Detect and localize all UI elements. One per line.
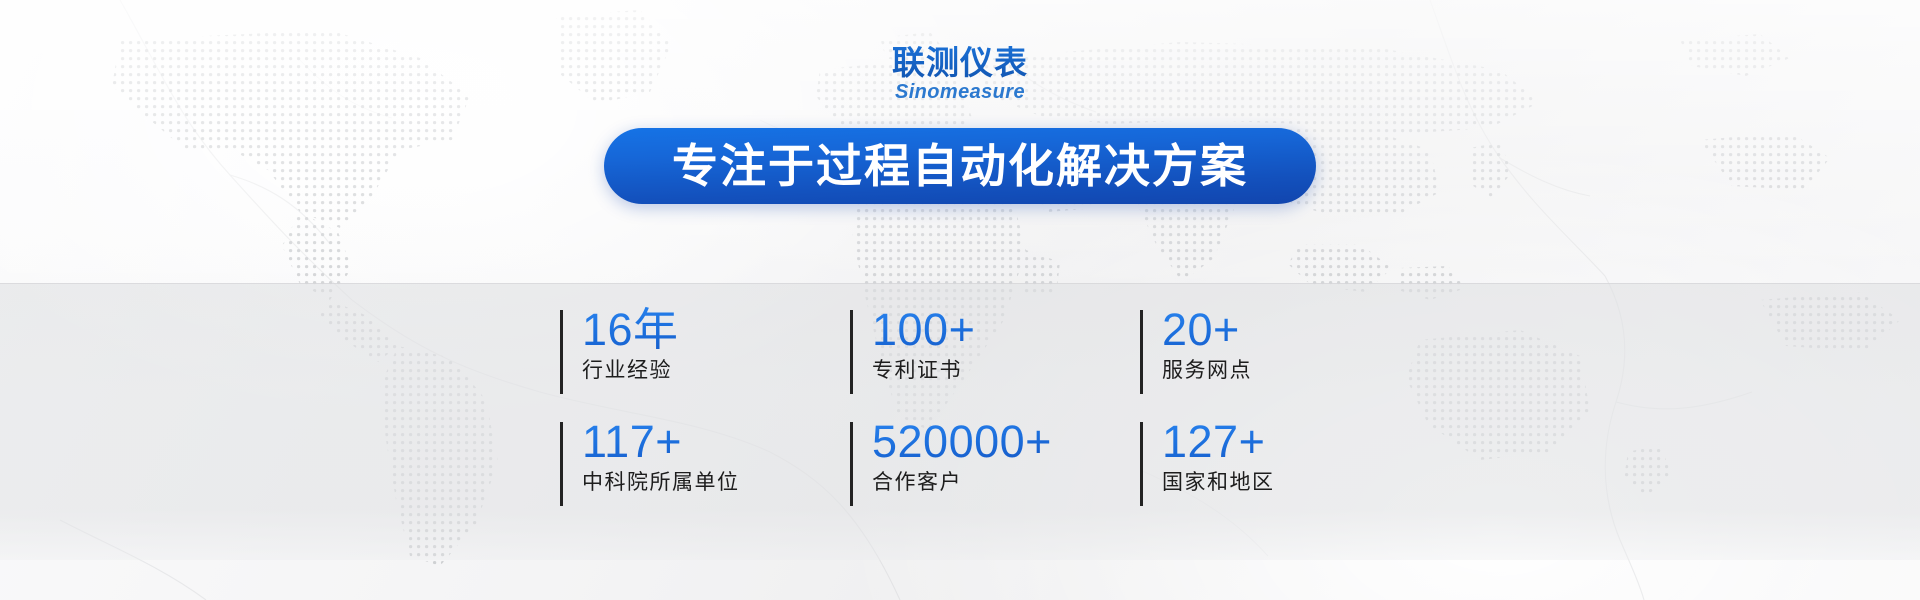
stat-countries-and-regions: 127+ 国家和地区 bbox=[1140, 418, 1430, 530]
banner-content: 联测仪表 Sinomeasure 专注于过程自动化解决方案 16年 行业经验 1… bbox=[0, 0, 1920, 600]
stat-service-outlets: 20+ 服务网点 bbox=[1140, 306, 1430, 418]
stat-label: 中科院所属单位 bbox=[582, 471, 850, 494]
stat-label: 服务网点 bbox=[1162, 359, 1430, 382]
stats-grid: 16年 行业经验 100+ 专利证书 20+ 服务网点 117+ 中科院所属单位 bbox=[560, 306, 1180, 530]
brand-logo: 联测仪表 Sinomeasure bbox=[892, 46, 1028, 102]
stat-industry-experience: 16年 行业经验 bbox=[560, 306, 850, 418]
brand-logo-chinese: 联测仪表 bbox=[892, 46, 1028, 79]
stat-value: 100+ bbox=[872, 306, 1140, 354]
promo-banner: 联测仪表 Sinomeasure 专注于过程自动化解决方案 16年 行业经验 1… bbox=[0, 0, 1920, 600]
stat-value: 127+ bbox=[1162, 418, 1430, 466]
stat-value: 16年 bbox=[582, 306, 850, 354]
stat-rule-icon bbox=[1140, 422, 1143, 506]
stat-label: 国家和地区 bbox=[1162, 471, 1430, 494]
stat-label: 合作客户 bbox=[872, 471, 1140, 494]
stat-rule-icon bbox=[1140, 310, 1143, 394]
stat-partner-customers: 520000+ 合作客户 bbox=[850, 418, 1140, 530]
brand-logo-english: Sinomeasure bbox=[892, 82, 1028, 102]
stat-cas-affiliated-units: 117+ 中科院所属单位 bbox=[560, 418, 850, 530]
headline-pill: 专注于过程自动化解决方案 bbox=[604, 128, 1316, 204]
stat-label: 行业经验 bbox=[582, 359, 850, 382]
stat-rule-icon bbox=[850, 310, 853, 394]
stat-rule-icon bbox=[850, 422, 853, 506]
stat-patent-certificates: 100+ 专利证书 bbox=[850, 306, 1140, 418]
stat-value: 520000+ bbox=[872, 418, 1140, 466]
stat-rule-icon bbox=[560, 422, 563, 506]
stat-value: 20+ bbox=[1162, 306, 1430, 354]
stat-value: 117+ bbox=[582, 418, 850, 466]
stat-label: 专利证书 bbox=[872, 359, 1140, 382]
headline-text: 专注于过程自动化解决方案 bbox=[672, 143, 1248, 189]
stat-rule-icon bbox=[560, 310, 563, 394]
